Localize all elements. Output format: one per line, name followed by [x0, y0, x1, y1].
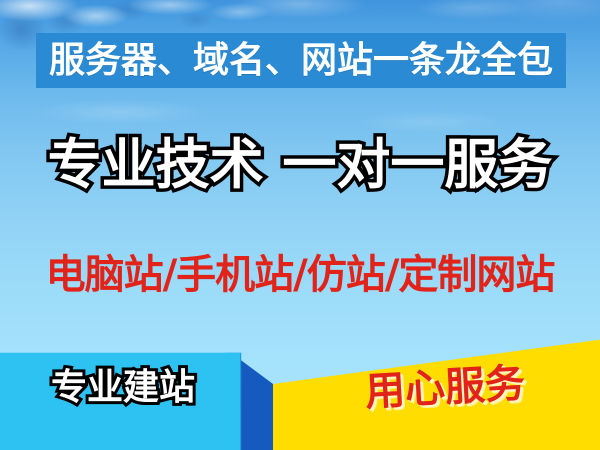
slogan-primary: 专业技术 一对一服务	[0, 138, 600, 192]
promo-banner: 服务器、域名、网站一条龙全包 专业技术 一对一服务 电脑站/手机站/仿站/定制网…	[0, 0, 600, 450]
slogan-primary-text: 专业技术 一对一服务	[48, 133, 553, 196]
ribbon-left-text: 专业建站	[18, 370, 228, 406]
headline-bar: 服务器、域名、网站一条龙全包	[36, 33, 566, 88]
service-list-text: 电脑站/手机站/仿站/定制网站	[46, 252, 555, 298]
headline-text: 服务器、域名、网站一条龙全包	[49, 43, 553, 79]
service-list: 电脑站/手机站/仿站/定制网站	[0, 255, 600, 295]
